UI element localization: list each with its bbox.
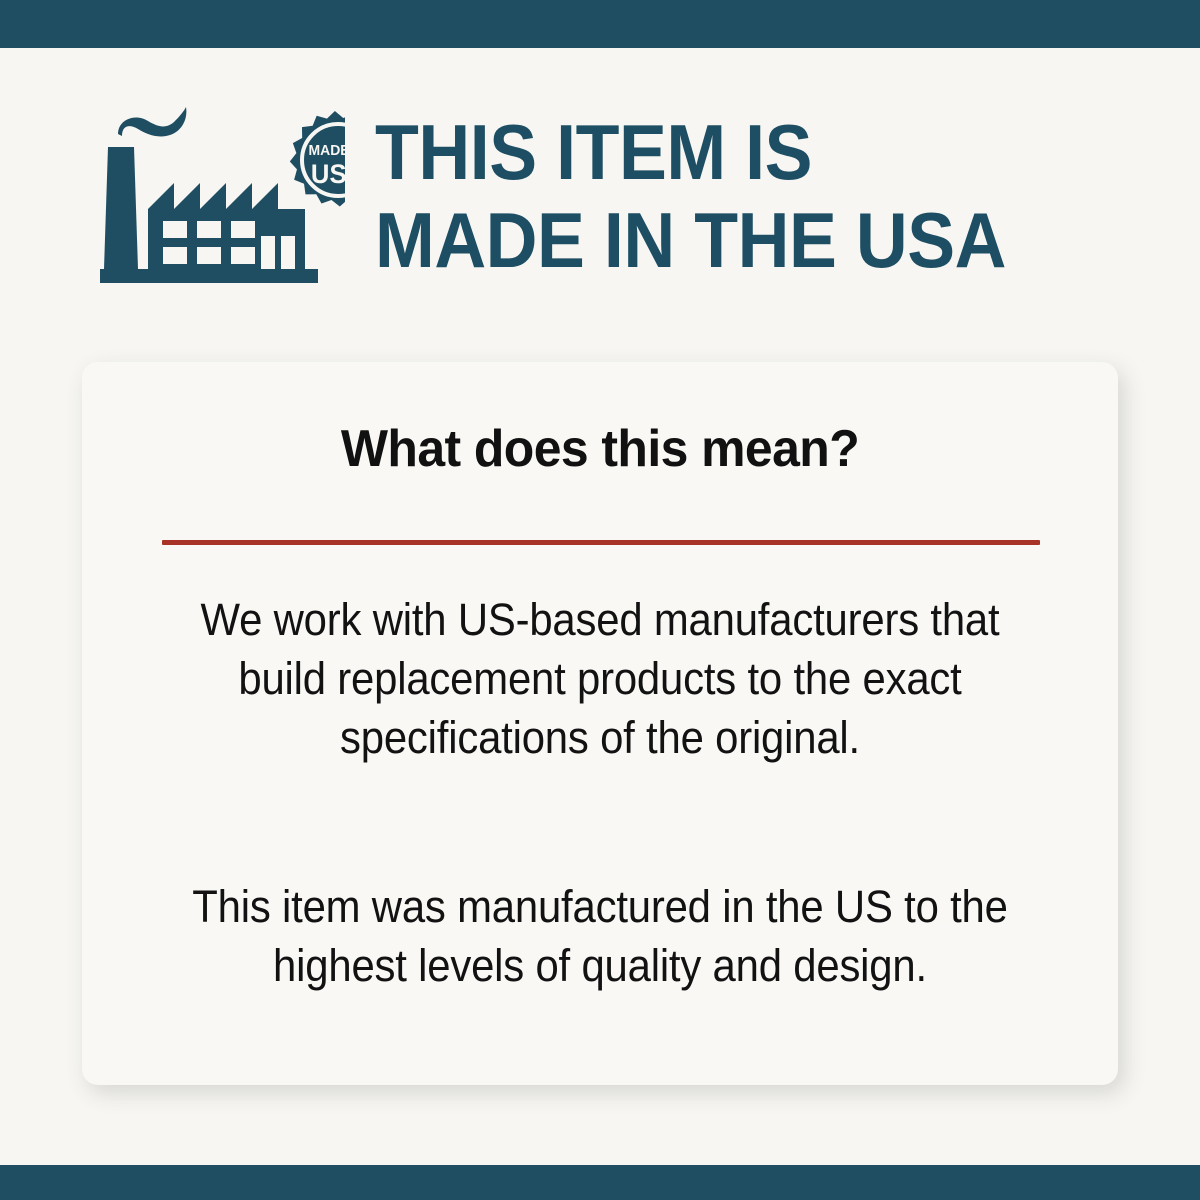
card-body: We work with US-based manufacturers that…	[132, 590, 1068, 995]
page-title-line-1: THIS ITEM IS	[375, 108, 1006, 196]
factory-icon: MADE IN USA	[100, 105, 345, 295]
page-title-line-2: MADE IN THE USA	[375, 196, 1006, 284]
body-paragraph-1: We work with US-based manufacturers that…	[165, 590, 1035, 767]
badge-line1: MADE IN	[309, 143, 345, 160]
made-in-usa-badge-icon: MADE IN USA	[290, 111, 345, 207]
bottom-accent-bar	[0, 1165, 1200, 1200]
factory-logo: MADE IN USA	[100, 105, 345, 295]
factory-base	[100, 269, 318, 283]
badge-line2: USA	[311, 158, 345, 189]
chimney-shape	[104, 147, 138, 269]
card-title: What does this mean?	[103, 419, 1098, 479]
page-title: THIS ITEM IS MADE IN THE USA	[375, 108, 1006, 284]
header-banner: MADE IN USA THIS ITEM IS MADE IN THE USA	[0, 48, 1200, 348]
top-accent-bar	[0, 0, 1200, 48]
card-divider	[162, 540, 1040, 545]
smoke-icon	[118, 107, 186, 136]
body-paragraph-2: This item was manufactured in the US to …	[165, 877, 1035, 995]
explanation-card: What does this mean? We work with US-bas…	[82, 362, 1118, 1085]
made-in-usa-infographic: MADE IN USA THIS ITEM IS MADE IN THE USA…	[0, 0, 1200, 1200]
